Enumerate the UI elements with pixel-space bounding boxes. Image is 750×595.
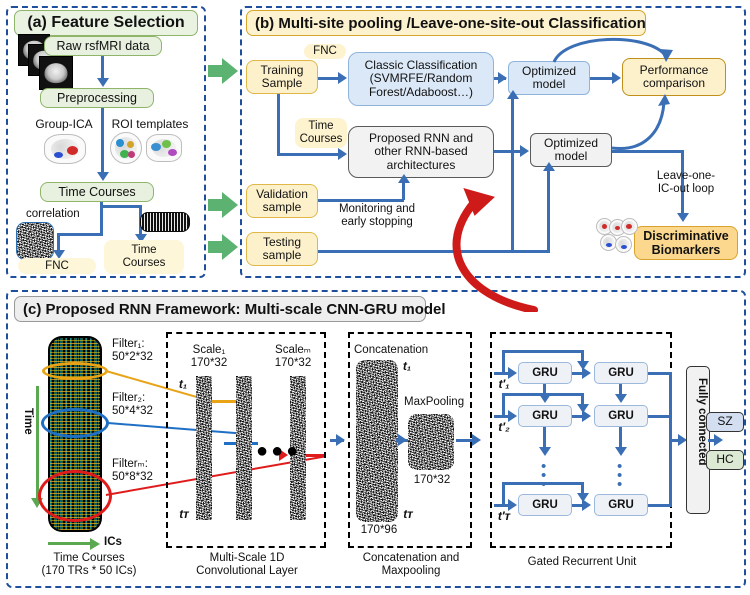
conv-feature-map-1: [196, 376, 212, 520]
roi-brain-icon: [146, 134, 182, 162]
filter1-highlight-ellipse: [42, 362, 108, 380]
panel-c-title: (c) Proposed RNN Framework: Multi-scale …: [14, 296, 426, 322]
arrowhead-right: [338, 72, 347, 84]
output-class-sz: SZ: [706, 412, 744, 432]
brain-slice-icon: [39, 56, 73, 90]
node-discriminative-biomarkers: Discriminative Biomarkers: [634, 226, 738, 260]
roi-brain-icon: [110, 132, 142, 164]
connector-train-to-rnn: [277, 153, 339, 156]
label-correlation: correlation: [26, 208, 106, 221]
label-t-first-concat: t₁: [398, 360, 416, 374]
node-classic-classification: Classic Classification (SVMRFE/Random Fo…: [348, 52, 494, 106]
output-class-hc: HC: [706, 450, 744, 470]
caption-concat-maxpool: Concatenation and Maxpooling: [348, 552, 474, 578]
label-scale-first: Scale₁170*32: [178, 344, 240, 370]
transfer-arrow-icon: [208, 234, 238, 260]
label-concatenation: Concatenation: [354, 344, 450, 357]
arrowhead-right: [498, 72, 507, 84]
node-proposed-rnn: Proposed RNN and other RNN-based archite…: [348, 126, 494, 178]
label-time-axis: Time: [20, 408, 34, 435]
gru-skip-top-r3: [502, 482, 584, 485]
gru-skip-left-r2: [502, 393, 505, 417]
concat-feature-map: [356, 360, 398, 522]
caption-conv-layer: Multi-Scale 1D Convolutional Layer: [176, 552, 318, 578]
label-monitoring: Monitoring and early stopping: [322, 203, 432, 229]
label-fully-connected: Fully connected: [688, 378, 708, 466]
gru-cell: GRU: [518, 405, 572, 427]
arrowhead-down: [577, 493, 589, 502]
connector-train-down: [277, 94, 280, 156]
gru-cell: GRU: [518, 362, 572, 384]
label-tprime-1: t′₁: [492, 378, 516, 392]
arrowhead-down: [577, 361, 589, 370]
arrowhead-down: [577, 404, 589, 413]
connector-testing-up: [547, 170, 550, 252]
label-t-last-concat: tᴛ: [398, 508, 418, 522]
panel-a-title: (a) Feature Selection: [14, 10, 198, 36]
figure-root: (a) Feature Selection Raw rsfMRI data Pr…: [0, 0, 750, 595]
arrowhead-right: [472, 434, 481, 446]
gru-cell: GRU: [594, 494, 648, 516]
connector-preproc-to-tc: [101, 108, 104, 176]
label-roi-templates: ROI templates: [106, 118, 194, 132]
label-ics-axis: ICs: [104, 536, 134, 549]
node-raw-rsfmri: Raw rsfMRI data: [44, 36, 162, 56]
transfer-arrow-icon: [208, 192, 238, 218]
ics-axis-arrowhead: [90, 538, 100, 550]
node-optimized-model-top: Optimized model: [508, 61, 590, 95]
arrowhead-right: [508, 410, 517, 422]
gru-skip-top-r1: [502, 350, 584, 353]
gru-v-link-c2-r2: [619, 427, 622, 449]
node-time-courses-out: Time Courses: [104, 240, 184, 274]
gru-v-link-c1-r2: [543, 427, 546, 449]
filter2-highlight-ellipse: [41, 408, 109, 438]
node-time-courses: Time Courses: [40, 182, 154, 202]
arrowhead-right: [520, 145, 529, 157]
label-tprime-T: t′ᴛ: [492, 510, 516, 524]
label-group-ica: Group-ICA: [28, 118, 100, 132]
connector-raw-to-preproc: [101, 56, 104, 80]
arrowhead-down: [97, 78, 109, 87]
tag-fnc: FNC: [304, 44, 346, 59]
label-maxpooling: MaxPooling: [404, 396, 478, 409]
gru-vertical-ellipsis-col2: •••: [617, 462, 622, 489]
transfer-arrow-icon: [208, 58, 238, 84]
label-scale-last: Scaleₘ170*32: [262, 344, 324, 370]
connector-tc-right: [100, 205, 142, 208]
fnc-matrix-icon: [16, 222, 54, 260]
gru-cell: GRU: [594, 362, 648, 384]
gru-cell: GRU: [518, 494, 572, 516]
connector-validation-to-rnn: [318, 199, 404, 202]
caption-gru: Gated Recurrent Unit: [498, 556, 666, 569]
node-preprocessing: Preprocessing: [40, 88, 154, 108]
arrowhead-down: [97, 172, 109, 181]
node-validation-sample: Validation sample: [246, 184, 318, 218]
label-t-last-conv: tᴛ: [174, 508, 194, 522]
feedback-curve-top: [548, 30, 678, 64]
arrowhead-right: [338, 148, 347, 160]
arrowhead-right: [612, 72, 621, 84]
ics-axis-line: [48, 542, 92, 545]
feedback-curve-bottom: [600, 94, 678, 152]
arrowhead-right: [508, 499, 517, 511]
arrowhead-right: [398, 434, 407, 446]
arrowhead-down: [539, 447, 551, 456]
gru-skip-top-r2: [502, 393, 584, 396]
label-leave-one-ic-out-loop: Leave-one- IC-out loop: [636, 170, 736, 196]
arrowhead-down: [615, 394, 627, 403]
node-testing-sample: Testing sample: [246, 232, 318, 266]
label-t-first-conv: t₁: [174, 378, 192, 392]
arrowhead-up: [543, 162, 555, 171]
connector-train-to-classic: [318, 77, 340, 80]
arrowhead-up: [507, 90, 519, 99]
node-fnc: FNC: [18, 258, 96, 274]
conv-feature-map-2: [236, 376, 252, 520]
arrowhead-right: [508, 367, 517, 379]
node-training-sample: Training Sample: [246, 60, 318, 94]
connector-validation-up: [402, 182, 405, 200]
gru-skip-left-r3: [502, 482, 505, 506]
red-link-arrow: [424, 184, 544, 312]
connector-opt2-to-loop: [612, 150, 684, 153]
label-tprime-2: t′₂: [492, 421, 516, 435]
ica-brain-icon: [44, 134, 86, 164]
time-course-strip-icon: [140, 212, 190, 232]
arrowhead-right: [714, 434, 723, 446]
filterm-highlight-ellipse: [38, 470, 112, 522]
biomarker-brains-icon: [596, 218, 636, 260]
label-concat-dim: 170*96: [350, 524, 408, 537]
connector-tc-left: [57, 233, 103, 236]
label-pool-dim: 170*32: [404, 474, 460, 487]
arrowhead-down: [677, 213, 689, 222]
arrowhead-down: [615, 447, 627, 456]
gru-cell: GRU: [594, 405, 648, 427]
arrowhead-up: [398, 174, 410, 183]
conv-ellipsis: ●●●: [256, 440, 301, 463]
gru-skip-left-r1: [502, 350, 505, 374]
maxpool-feature-map: [408, 414, 454, 470]
tag-time-courses: Time Courses: [295, 118, 347, 148]
arrowhead-right: [336, 434, 345, 446]
time-axis-line: [36, 386, 39, 500]
caption-time-courses: Time Courses (170 TRs * 50 ICs): [14, 552, 164, 578]
